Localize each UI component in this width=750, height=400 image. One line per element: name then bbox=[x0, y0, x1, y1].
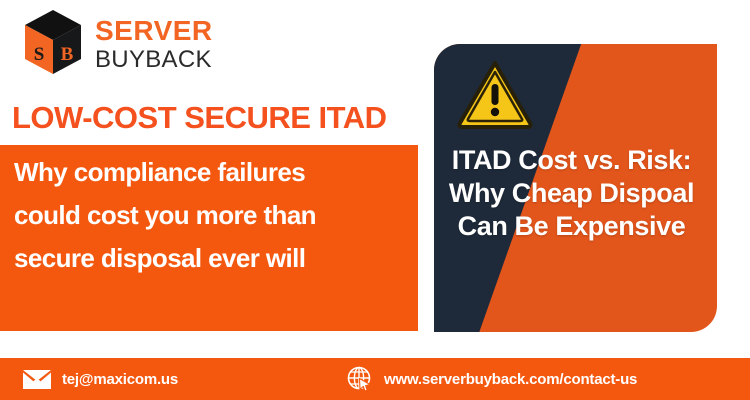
card-title-line-1: ITAD Cost vs. Risk: bbox=[434, 144, 709, 177]
footer-email-text: tej@maxicom.us bbox=[62, 371, 178, 388]
headline-line-1: Why compliance failures bbox=[14, 159, 400, 185]
warning-triangle-icon bbox=[457, 58, 533, 130]
globe-cursor-icon bbox=[346, 365, 374, 393]
article-card: ITAD Cost vs. Risk: Why Cheap Dispoal Ca… bbox=[434, 44, 717, 332]
card-title: ITAD Cost vs. Risk: Why Cheap Dispoal Ca… bbox=[434, 144, 709, 243]
cube-logo-icon: S B bbox=[22, 8, 84, 78]
footer-email-item[interactable]: tej@maxicom.us bbox=[22, 369, 178, 390]
footer-website-item[interactable]: www.serverbuyback.com/contact-us bbox=[346, 365, 637, 393]
footer-website-text: www.serverbuyback.com/contact-us bbox=[384, 371, 637, 388]
brand-logo: S B SERVER BUYBACK bbox=[22, 8, 213, 78]
svg-text:S: S bbox=[34, 44, 45, 65]
marketing-banner: S B SERVER BUYBACK LOW-COST SECURE ITAD … bbox=[0, 0, 750, 400]
card-title-line-2: Why Cheap Dispoal bbox=[434, 177, 709, 210]
headline-block: Why compliance failures could cost you m… bbox=[0, 145, 418, 331]
headline-line-3: secure disposal ever will bbox=[14, 245, 400, 271]
headline-line-2: could cost you more than bbox=[14, 202, 400, 228]
svg-text:B: B bbox=[61, 44, 74, 65]
envelope-icon bbox=[22, 369, 52, 390]
contact-footer: tej@maxicom.us www.serverbuyback.com/con… bbox=[0, 358, 750, 400]
brand-wordmark: SERVER BUYBACK bbox=[95, 14, 213, 72]
brand-name-line2: BUYBACK bbox=[95, 48, 213, 72]
card-title-line-3: Can Be Expensive bbox=[434, 210, 709, 243]
brand-name-line1: SERVER bbox=[95, 17, 213, 45]
kicker-text: LOW-COST SECURE ITAD bbox=[12, 100, 387, 136]
